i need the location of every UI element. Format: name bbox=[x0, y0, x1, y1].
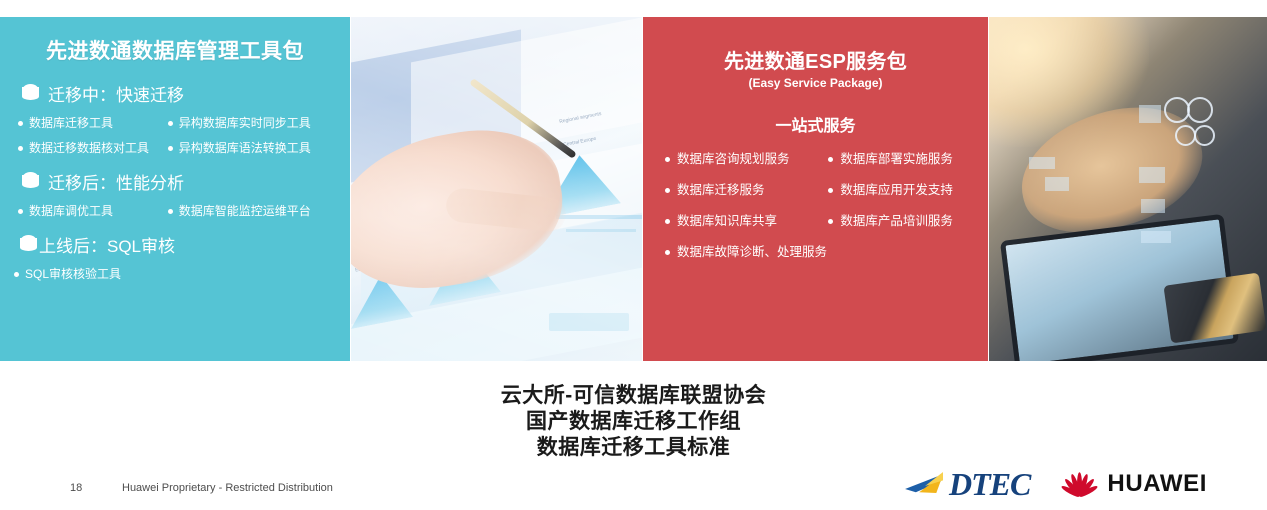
teal-section-heading-2-label: 迁移后：性能分析 bbox=[48, 169, 184, 194]
dtec-logo: DTEC bbox=[905, 468, 1030, 500]
bullet-dot-icon bbox=[18, 146, 23, 151]
service-item: 数据库咨询规划服务 bbox=[665, 152, 828, 167]
dtec-logo-text: DTEC bbox=[949, 468, 1030, 500]
red-panel-midline: 一站式服务 bbox=[655, 112, 976, 136]
bullet-dot-icon bbox=[168, 146, 173, 151]
service-label: 数据库迁移服务 bbox=[677, 183, 765, 198]
bullet-dot-icon bbox=[828, 157, 833, 162]
bullet-label: 数据迁移数据核对工具 bbox=[29, 141, 149, 156]
service-item: 数据库应用开发支持 bbox=[828, 183, 976, 198]
teal-panel: 先进数通数据库管理工具包 迁移中：快速迁移 数据库迁移工具 异构数据库实时同步工… bbox=[0, 17, 350, 361]
teal-bullets-1: 数据库迁移工具 异构数据库实时同步工具 数据迁移数据核对工具 异构数据库语法转换… bbox=[12, 116, 338, 156]
bullet-label: SQL审核核验工具 bbox=[25, 267, 121, 282]
photo-sheen-overlay bbox=[351, 17, 642, 361]
bullet-dot-icon bbox=[18, 209, 23, 214]
database-icon bbox=[22, 84, 39, 104]
center-photo: Regional segments Central Europe West Eu… bbox=[351, 17, 642, 361]
service-label: 数据库咨询规划服务 bbox=[677, 152, 790, 167]
bullet-item: 异构数据库语法转换工具 bbox=[168, 141, 338, 156]
bullet-item: SQL审核核验工具 bbox=[14, 267, 172, 282]
service-item: 数据库部署实施服务 bbox=[828, 152, 976, 167]
huawei-logo: HUAWEI bbox=[1058, 470, 1207, 498]
service-item: 数据库产品培训服务 bbox=[828, 214, 976, 229]
teal-section-heading-3-label: 上线后：SQL审核 bbox=[39, 232, 175, 257]
service-item: 数据库迁移服务 bbox=[665, 183, 828, 198]
database-icon bbox=[20, 235, 37, 255]
service-row-full: 数据库故障诊断、处理服务 bbox=[655, 245, 976, 260]
service-row: 数据库知识库共享 数据库产品培训服务 bbox=[655, 214, 976, 229]
bullet-dot-icon bbox=[665, 188, 670, 193]
right-photo bbox=[989, 17, 1267, 361]
bullet-dot-icon bbox=[828, 188, 833, 193]
bullet-dot-icon bbox=[14, 272, 19, 277]
banner-strip: 先进数通数据库管理工具包 迁移中：快速迁移 数据库迁移工具 异构数据库实时同步工… bbox=[0, 17, 1267, 361]
service-label: 数据库产品培训服务 bbox=[840, 214, 953, 229]
bullet-dot-icon bbox=[168, 209, 173, 214]
service-label: 数据库知识库共享 bbox=[677, 214, 777, 229]
photo-sheen-overlay bbox=[989, 17, 1267, 361]
red-panel: 先进数通ESP服务包 (Easy Service Package) 一站式服务 … bbox=[643, 17, 988, 361]
huawei-logo-text: HUAWEI bbox=[1107, 470, 1207, 498]
bullet-item: 数据迁移数据核对工具 bbox=[18, 141, 168, 156]
red-panel-subtitle: (Easy Service Package) bbox=[655, 76, 976, 90]
logo-group: DTEC HUAWEI bbox=[905, 468, 1207, 500]
bullet-label: 数据库迁移工具 bbox=[29, 116, 113, 131]
headline-line-3: 数据库迁移工具标准 bbox=[0, 435, 1267, 461]
service-label: 数据库部署实施服务 bbox=[840, 152, 953, 167]
huawei-flower-icon bbox=[1058, 470, 1098, 498]
service-row: 数据库咨询规划服务 数据库部署实施服务 bbox=[655, 152, 976, 167]
bullet-dot-icon bbox=[665, 157, 670, 162]
confidentiality-note: Huawei Proprietary - Restricted Distribu… bbox=[122, 482, 333, 494]
bullet-label: 数据库调优工具 bbox=[29, 204, 113, 219]
slide-canvas: 先进数通数据库管理工具包 迁移中：快速迁移 数据库迁移工具 异构数据库实时同步工… bbox=[0, 0, 1267, 510]
headline-line-1: 云大所-可信数据库联盟协会 bbox=[0, 383, 1267, 409]
bullet-row: SQL审核核验工具 bbox=[12, 267, 338, 282]
bullet-label: 数据库智能监控运维平台 bbox=[179, 204, 311, 219]
service-label: 数据库应用开发支持 bbox=[840, 183, 953, 198]
headline-block: 云大所-可信数据库联盟协会 国产数据库迁移工作组 数据库迁移工具标准 bbox=[0, 383, 1267, 461]
teal-bullets-2: 数据库调优工具 数据库智能监控运维平台 bbox=[12, 204, 338, 219]
service-label: 数据库故障诊断、处理服务 bbox=[677, 245, 827, 260]
teal-section-heading-3: 上线后：SQL审核 bbox=[20, 232, 338, 257]
teal-section-heading-1-label: 迁移中：快速迁移 bbox=[48, 81, 184, 106]
bullet-dot-icon bbox=[18, 121, 23, 126]
bullet-item: 数据库迁移工具 bbox=[18, 116, 168, 131]
database-icon bbox=[22, 172, 39, 192]
bullet-dot-icon bbox=[665, 219, 670, 224]
red-panel-title: 先进数通ESP服务包 bbox=[655, 45, 976, 74]
bullet-label: 异构数据库语法转换工具 bbox=[179, 141, 311, 156]
teal-section-heading-2: 迁移后：性能分析 bbox=[22, 169, 338, 194]
teal-bullets-3: SQL审核核验工具 bbox=[12, 267, 338, 282]
teal-panel-title: 先进数通数据库管理工具包 bbox=[12, 35, 338, 65]
bullet-item: 数据库调优工具 bbox=[18, 204, 168, 219]
service-item: 数据库知识库共享 bbox=[665, 214, 828, 229]
bullet-dot-icon bbox=[828, 219, 833, 224]
bullet-dot-icon bbox=[168, 121, 173, 126]
page-number: 18 bbox=[70, 482, 82, 494]
bullet-dot-icon bbox=[665, 250, 670, 255]
bullet-item: 数据库智能监控运维平台 bbox=[168, 204, 338, 219]
bullet-row: 数据库调优工具 数据库智能监控运维平台 bbox=[12, 204, 338, 219]
bullet-item: 异构数据库实时同步工具 bbox=[168, 116, 338, 131]
bullet-row: 数据迁移数据核对工具 异构数据库语法转换工具 bbox=[12, 141, 338, 156]
headline-line-2: 国产数据库迁移工作组 bbox=[0, 409, 1267, 435]
service-row: 数据库迁移服务 数据库应用开发支持 bbox=[655, 183, 976, 198]
dtec-arrow-icon bbox=[905, 471, 947, 497]
teal-section-heading-1: 迁移中：快速迁移 bbox=[22, 81, 338, 106]
service-item: 数据库故障诊断、处理服务 bbox=[665, 245, 827, 260]
bullet-label: 异构数据库实时同步工具 bbox=[179, 116, 311, 131]
bullet-row: 数据库迁移工具 异构数据库实时同步工具 bbox=[12, 116, 338, 131]
